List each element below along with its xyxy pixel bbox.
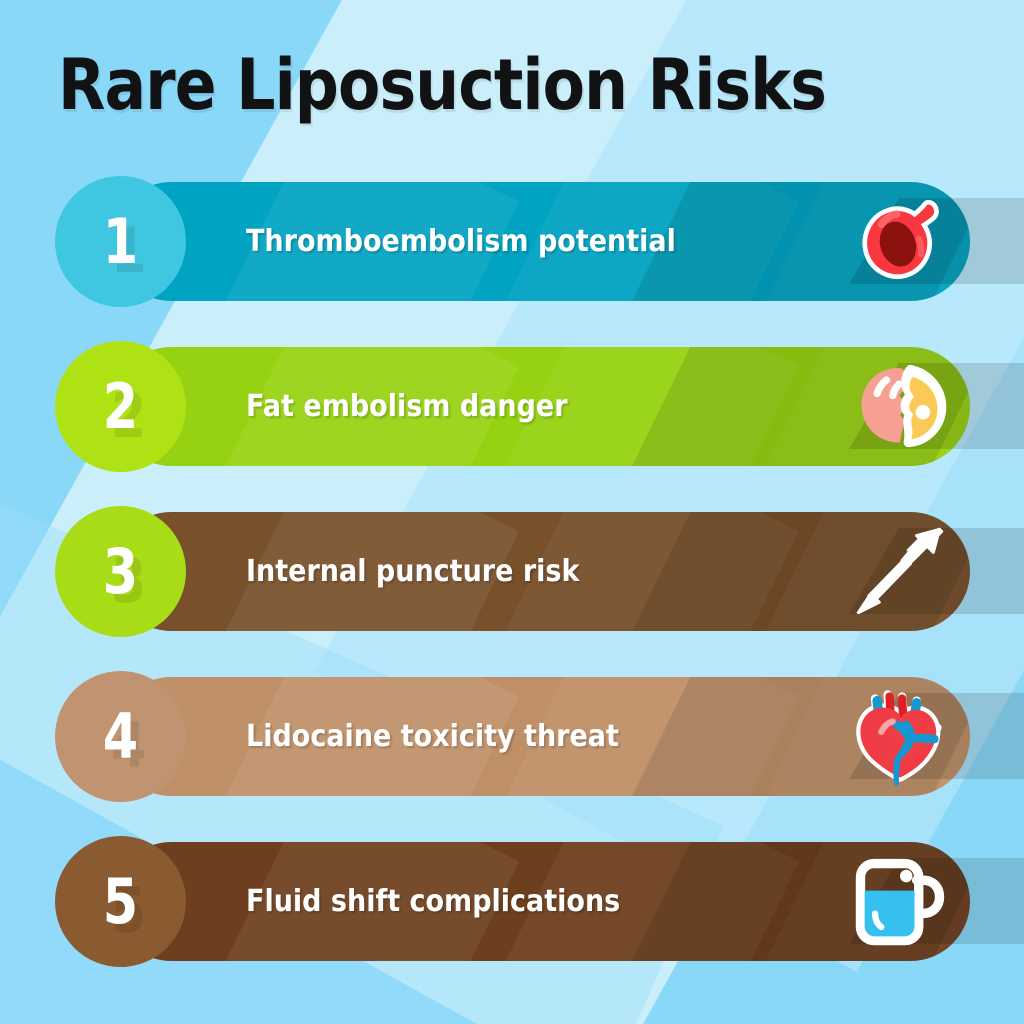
list-item-label: Thromboembolism potential — [246, 176, 676, 307]
row-number: 1 — [67, 176, 174, 307]
fat-cell-icon — [848, 354, 952, 458]
anatomical-heart-icon — [848, 684, 952, 788]
water-mug-icon — [848, 849, 952, 953]
arrow-icon — [848, 519, 952, 623]
page-title: Rare Liposuction Risks — [58, 44, 826, 126]
list-item-label: Fat embolism danger — [246, 341, 568, 472]
list-item-label: Fluid shift complications — [246, 836, 620, 967]
list-item[interactable]: 3 Internal puncture risk — [0, 506, 1024, 637]
list-item[interactable]: 2 Fat embolism danger — [0, 341, 1024, 472]
row-number-badge: 3 — [55, 506, 186, 637]
list-item-label: Internal puncture risk — [246, 506, 579, 637]
list-item[interactable]: 1 Thromboembolism potential — [0, 176, 1024, 307]
list-item[interactable]: 5 Fluid shift complications — [0, 836, 1024, 967]
row-number: 3 — [67, 506, 174, 637]
row-number-badge: 1 — [55, 176, 186, 307]
row-number: 4 — [67, 671, 174, 802]
row-number-badge: 5 — [55, 836, 186, 967]
infographic-poster: Rare Liposuction Risks 1 Thromboembolism… — [0, 0, 1024, 1024]
row-number: 5 — [67, 836, 174, 967]
list-item[interactable]: 4 Lidocaine toxicity threat — [0, 671, 1024, 802]
risk-list: 1 Thromboembolism potential — [0, 176, 1024, 1001]
row-number: 2 — [67, 341, 174, 472]
blood-clot-icon — [848, 189, 952, 293]
list-item-label: Lidocaine toxicity threat — [246, 671, 619, 802]
row-number-badge: 2 — [55, 341, 186, 472]
row-number-badge: 4 — [55, 671, 186, 802]
